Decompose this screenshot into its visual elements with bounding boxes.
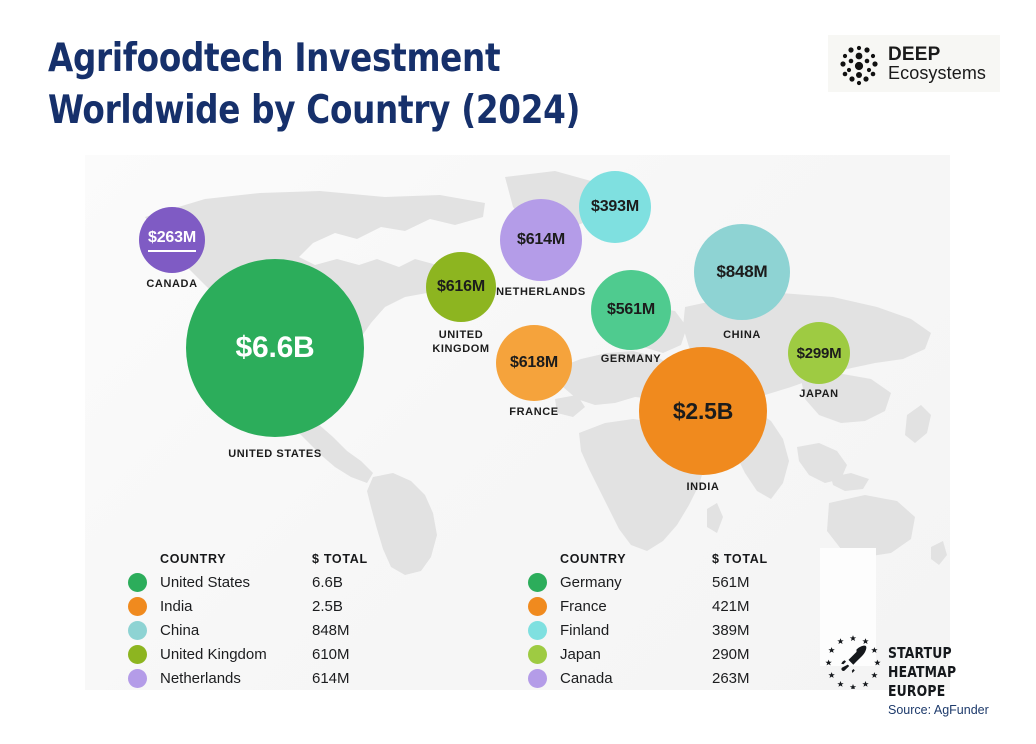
legend-color-swatch [528, 669, 547, 688]
bubble-value: $393M [591, 198, 639, 216]
bubble-value: $614M [517, 231, 565, 249]
bubble-value: $2.5B [673, 398, 733, 425]
legend-row[interactable]: France421M [528, 594, 768, 618]
legend-color-swatch [128, 573, 147, 592]
legend-country-name: France [560, 598, 712, 615]
legend-row[interactable]: United Kingdom610M [128, 642, 368, 666]
legend-country-total: 6.6B [312, 574, 343, 591]
deep-logo-line2: Ecosystems [888, 64, 986, 82]
legend-country-total: 421M [712, 598, 750, 615]
bubble-value: $6.6B [235, 331, 314, 365]
legend-header-total: $ TOTAL [712, 552, 768, 566]
legend-color-swatch [128, 645, 147, 664]
bubble-value: $263M [148, 229, 196, 252]
bubble-value: $848M [717, 262, 768, 282]
legend-color-swatch [528, 597, 547, 616]
legend-row[interactable]: Canada263M [528, 666, 768, 690]
bubble-label: CANADA [92, 277, 252, 291]
legend-color-swatch [128, 621, 147, 640]
legend-row[interactable]: China848M [128, 618, 368, 642]
bubble-canada[interactable]: $263M [139, 207, 205, 273]
legend-country-name: Canada [560, 670, 712, 687]
legend-country-name: Japan [560, 646, 712, 663]
deep-ecosystems-logo: DEEP Ecosystems [828, 35, 1000, 92]
legend-row[interactable]: Japan290M [528, 642, 768, 666]
source-note: Source: AgFunder [888, 703, 989, 717]
legend-header-row: COUNTRY$ TOTAL [528, 548, 768, 570]
legend-header-country: COUNTRY [160, 552, 312, 566]
bubble-value: $561M [607, 301, 655, 319]
legend-country-total: 610M [312, 646, 350, 663]
legend-country-name: Finland [560, 622, 712, 639]
deep-logo-line1: DEEP [888, 45, 986, 64]
bubble-value: $618M [510, 354, 558, 372]
bubble-china[interactable]: $848M [694, 224, 790, 320]
legend-country-total: 389M [712, 622, 750, 639]
header: Agrifoodtech Investment Worldwide by Cou… [0, 0, 1036, 150]
bubble-germany[interactable]: $561M [591, 270, 671, 350]
legend-color-swatch [528, 621, 547, 640]
bubble-india[interactable]: $2.5B [639, 347, 767, 475]
legend-color-swatch [128, 597, 147, 616]
legend-row[interactable]: Netherlands614M [128, 666, 368, 690]
legend-country-name: Netherlands [160, 670, 312, 687]
legend-header-row: COUNTRY$ TOTAL [128, 548, 368, 570]
legend-column-1: COUNTRY$ TOTALUnited States6.6BIndia2.5B… [128, 548, 368, 690]
legend-row[interactable]: United States6.6B [128, 570, 368, 594]
legend-country-total: 263M [712, 670, 750, 687]
legend-color-swatch [528, 645, 547, 664]
legend-country-name: China [160, 622, 312, 639]
legend-header-country: COUNTRY [560, 552, 712, 566]
bubble-label: UNITED STATES [195, 447, 355, 461]
bubble-japan[interactable]: $299M [788, 322, 850, 384]
legend-country-total: 848M [312, 622, 350, 639]
legend-country-total: 290M [712, 646, 750, 663]
legend-column-2: COUNTRY$ TOTALGermany561MFrance421MFinla… [528, 548, 768, 690]
legend-country-total: 561M [712, 574, 750, 591]
legend-color-swatch [128, 669, 147, 688]
deep-dots-icon [836, 41, 882, 87]
bubble-label: JAPAN [739, 387, 899, 401]
legend-row[interactable]: Finland389M [528, 618, 768, 642]
legend-country-total: 614M [312, 670, 350, 687]
legend-color-swatch [528, 573, 547, 592]
bubble-value: $299M [797, 345, 842, 362]
startup-heatmap-europe-text: STARTUP HEATMAP EUROPE [888, 644, 1024, 701]
bubble-netherlands[interactable]: $614M [500, 199, 582, 281]
legend-country-name: United Kingdom [160, 646, 312, 663]
bubble-france[interactable]: $618M [496, 325, 572, 401]
bubble-label: FRANCE [454, 405, 614, 419]
bubble-finland[interactable]: $393M [579, 171, 651, 243]
legend-row[interactable]: Germany561M [528, 570, 768, 594]
legend-country-total: 2.5B [312, 598, 343, 615]
legend-country-name: India [160, 598, 312, 615]
legend-row[interactable]: India2.5B [128, 594, 368, 618]
legend-country-name: United States [160, 574, 312, 591]
startup-heatmap-europe-logo [822, 633, 884, 689]
bubble-label: INDIA [623, 480, 783, 494]
legend-header-total: $ TOTAL [312, 552, 368, 566]
legend-country-name: Germany [560, 574, 712, 591]
page-title: Agrifoodtech Investment Worldwide by Cou… [48, 33, 699, 137]
